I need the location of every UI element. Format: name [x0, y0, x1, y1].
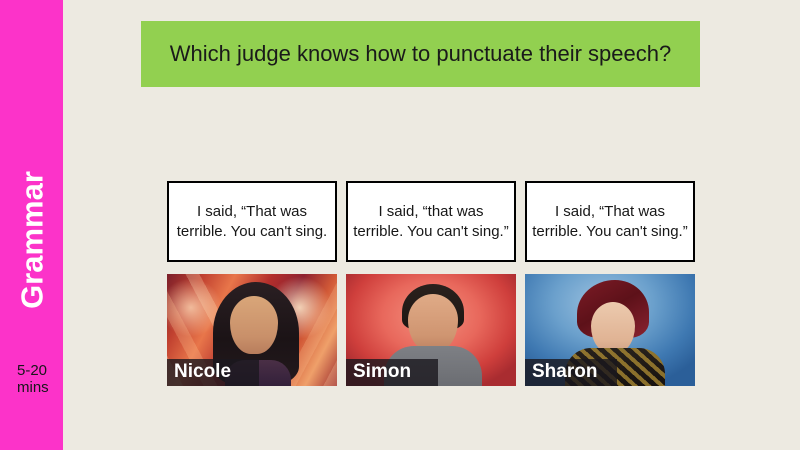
answer-text-simon: I said, “that was terrible. You can't si… [353, 202, 509, 242]
option-simon[interactable]: I said, “that was terrible. You can't si… [346, 181, 516, 262]
slide-canvas: Grammar 5-20 mins Which judge knows how … [0, 0, 800, 450]
question-banner: Which judge knows how to punctuate their… [141, 21, 700, 87]
nicole-face-shape [230, 296, 278, 354]
duration-label: 5-20 mins [17, 362, 51, 396]
option-sharon[interactable]: I said, “That was terrible. You can't si… [525, 181, 695, 262]
name-tag-sharon: Sharon [525, 359, 617, 386]
option-nicole[interactable]: I said, “That was terrible. You can't si… [167, 181, 337, 262]
sharon-face-shape [591, 302, 635, 354]
answer-text-sharon: I said, “That was terrible. You can't si… [532, 202, 688, 242]
name-tag-nicole: Nicole [167, 359, 259, 386]
category-label: Grammar [16, 171, 47, 309]
options-row: I said, “That was terrible. You can't si… [167, 181, 703, 386]
sharon-photo[interactable]: Sharon [525, 274, 695, 386]
simon-face-shape [408, 294, 458, 352]
name-tag-simon: Simon [346, 359, 438, 386]
answer-text-nicole: I said, “That was terrible. You can't si… [174, 202, 330, 242]
answer-box-nicole[interactable]: I said, “That was terrible. You can't si… [167, 181, 337, 262]
answer-box-sharon[interactable]: I said, “That was terrible. You can't si… [525, 181, 695, 262]
simon-photo[interactable]: Simon [346, 274, 516, 386]
nicole-photo[interactable]: Nicole [167, 274, 337, 386]
answer-box-simon[interactable]: I said, “that was terrible. You can't si… [346, 181, 516, 262]
question-text: Which judge knows how to punctuate their… [170, 39, 671, 69]
category-sidebar: Grammar 5-20 mins [0, 0, 63, 450]
